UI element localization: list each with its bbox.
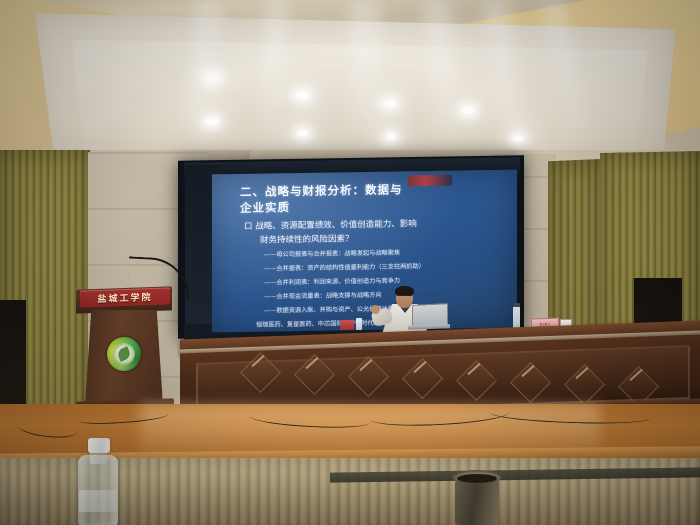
recessed-downlight-6 bbox=[297, 130, 308, 136]
recessed-downlight-1 bbox=[205, 73, 219, 81]
foreground-water-bottle-cap bbox=[88, 438, 110, 453]
slide-bullet-1-line2: 财务持续性的风险因素？ bbox=[260, 232, 354, 245]
lecture-hall-photo: 二、战略与财报分析：数据与 企业实质 口 战略、资源配置绩效、价值创造能力、影响… bbox=[0, 0, 700, 525]
recessed-downlight-3 bbox=[384, 100, 396, 107]
slide-subpoint-1: ——母公司报表与合并报表：战略发起与战略聚焦 bbox=[264, 247, 400, 258]
slide-title-line2: 企业实质 bbox=[240, 199, 290, 216]
recessed-downlight-2 bbox=[296, 92, 309, 99]
slide-bullet-1-line1: 口 战略、资源配置绩效、价值创造能力、影响 bbox=[244, 217, 417, 232]
tabletop-water-bottle-cap bbox=[513, 303, 520, 307]
podium-nameplate: 盐城工学院 bbox=[80, 287, 170, 307]
light-shaft-3 bbox=[349, 0, 385, 170]
eyeglasses-icon bbox=[397, 295, 412, 300]
speaker-hand bbox=[371, 305, 380, 314]
foreground-thermos-cup bbox=[455, 478, 499, 525]
presentation-slide[interactable]: 二、战略与财报分析：数据与 企业实质 口 战略、资源配置绩效、价值创造能力、影响… bbox=[212, 170, 517, 333]
recessed-downlight-7 bbox=[386, 134, 396, 140]
slide-subpoint-4: ——合并现金流量表：战略支撑与战略方向 bbox=[264, 290, 382, 301]
tabletop-small-bottle bbox=[356, 318, 362, 330]
foreground-water-bottle-label bbox=[79, 490, 117, 512]
slide-badge-icon bbox=[408, 175, 452, 187]
recessed-downlight-8 bbox=[513, 136, 523, 142]
podium-nameplate-text: 盐城工学院 bbox=[80, 287, 170, 307]
slide-title-line1: 二、战略与财报分析：数据与 bbox=[240, 181, 403, 200]
recessed-downlight-5 bbox=[206, 118, 218, 125]
tabletop-red-box bbox=[340, 320, 354, 330]
slide-subpoint-2: ——合并报表：资产的结构性值量利能力（三支柱两抓助） bbox=[264, 261, 425, 273]
slide-subpoint-3: ——合并利润表：利润来源、价值创造力与竞争力 bbox=[264, 275, 400, 286]
recessed-downlight-4 bbox=[462, 107, 474, 114]
foreground-thermos-opening bbox=[457, 474, 497, 483]
